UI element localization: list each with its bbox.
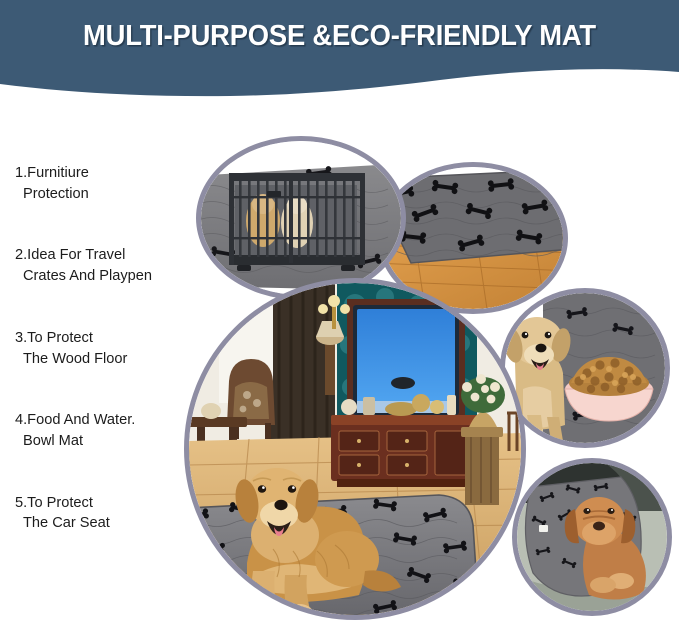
feature-item-label-line2: The Car Seat (15, 513, 205, 534)
feature-item-furniture-protection: 1.Furnitiure Protection (15, 163, 205, 204)
photo-dog-on-mat-in-living-room (189, 283, 521, 615)
feature-item-wood-floor: 3.To Protect The Wood Floor (15, 328, 205, 369)
feature-item-label-line2: The Wood Floor (15, 349, 205, 370)
feature-item-travel-crates: 2.Idea For Travel Crates And Playpen (15, 245, 205, 286)
feature-item-car-seat: 5.To Protect The Car Seat (15, 493, 205, 534)
feature-item-label-line2: Crates And Playpen (15, 266, 205, 287)
feature-item-label-line1: 5.To Protect (15, 493, 205, 514)
photo-puppy-on-mat-in-car-seat (517, 463, 667, 611)
photo-bubble-puppy-in-car-seat (512, 458, 672, 616)
feature-item-label-line1: 4.Food And Water. (15, 410, 205, 431)
feature-item-label-line1: 1.Furnitiure (15, 163, 205, 184)
feature-list: 1.Furnitiure Protection 2.Idea For Trave… (15, 163, 205, 534)
page-title: MULTI-PURPOSE &ECO-FRIENDLY MAT (14, 20, 666, 53)
header-banner (0, 0, 679, 112)
feature-item-food-water-bowl: 4.Food And Water. Bowl Mat (15, 410, 205, 451)
photo-bubble-dog-in-living-room (184, 278, 526, 620)
product-feature-infographic: MULTI-PURPOSE &ECO-FRIENDLY MAT 1.Furnit… (0, 0, 679, 642)
photo-bubble-dog-with-food-bowl (500, 288, 670, 448)
feature-item-label-line2: Protection (15, 184, 205, 205)
feature-item-label-line1: 3.To Protect (15, 328, 205, 349)
feature-item-label-line2: Bowl Mat (15, 431, 205, 452)
feature-item-label-line1: 2.Idea For Travel (15, 245, 205, 266)
photo-bubble-dog-crate-on-mat (196, 136, 406, 300)
photo-dog-with-food-bowl-on-mat (505, 293, 665, 443)
photo-dog-crate-on-mat (201, 141, 401, 295)
